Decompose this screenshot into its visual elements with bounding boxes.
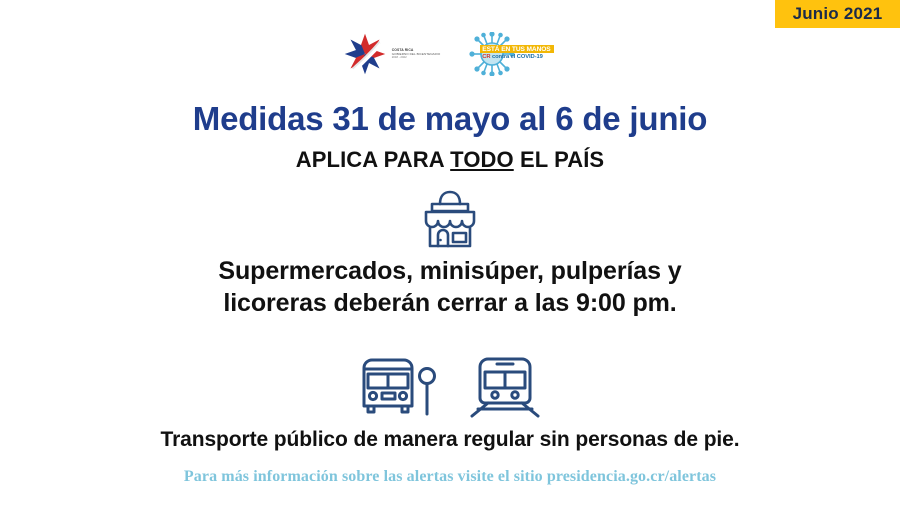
costa-rica-logo-text: COSTA RICA GOBIERNO DEL BICENTENARIO 201… [392,48,441,59]
bus-icon [356,352,440,418]
coronavirus-icon [462,32,558,76]
footer-note: Para más información sobre las alertas v… [0,468,900,486]
store-statement-line2: licoreras deberán cerrar a las 9:00 pm. [0,287,900,319]
month-badge-label: Junio 2021 [793,4,883,24]
subtitle-after: EL PAÍS [514,147,604,172]
costa-rica-logo-line3: 2018 - 2022 [392,56,441,59]
logo-row: COSTA RICA GOBIERNO DEL BICENTENARIO 201… [0,32,900,76]
subtitle-emphasis: TODO [450,147,514,172]
storefront-icon-wrapper [0,188,900,250]
transport-icons-wrapper [0,352,900,418]
poster-canvas: Junio 2021 COSTA RICA [0,0,900,524]
costa-rica-logo: COSTA RICA GOBIERNO DEL BICENTENARIO 201… [342,32,441,76]
subtitle-before: APLICA PARA [296,147,450,172]
month-badge: Junio 2021 [775,0,900,28]
covid-logo: ESTÁ EN TUS MANOS CR contra el COVID-19 [462,32,558,76]
costa-rica-star-icon [342,32,388,76]
train-icon [466,352,544,418]
page-subtitle: APLICA PARA TODO EL PAÍS [0,147,900,173]
page-title: Medidas 31 de mayo al 6 de junio [0,100,900,138]
store-statement-line1: Supermercados, minisúper, pulperías y [0,255,900,287]
transport-statement: Transporte público de manera regular sin… [0,428,900,452]
storefront-icon [418,188,482,250]
store-statement: Supermercados, minisúper, pulperías y li… [0,255,900,319]
